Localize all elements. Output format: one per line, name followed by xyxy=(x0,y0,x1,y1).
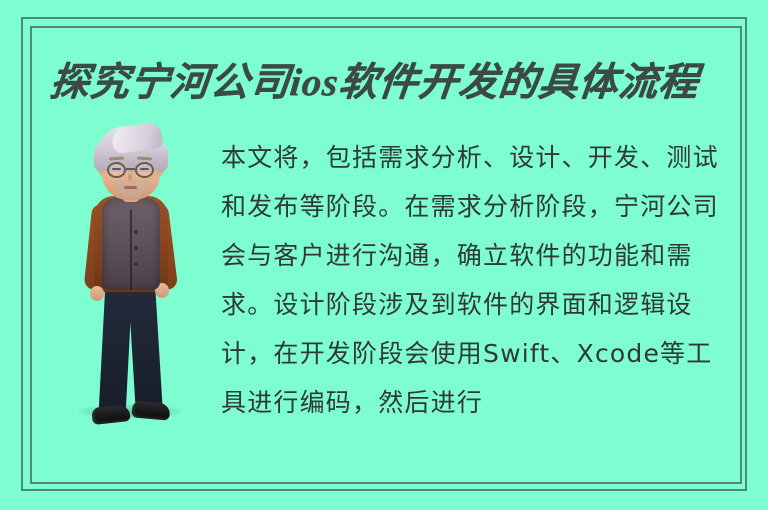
character-right-leg xyxy=(128,282,163,415)
poster-canvas: 探究宁河公司ios软件开发的具体流程 本文将，包括需求分析、设计、开发、测试和发… xyxy=(0,0,768,510)
glasses-right-lens xyxy=(135,162,154,178)
character-left-hand xyxy=(90,286,104,301)
character-mouth xyxy=(124,186,137,189)
character-right-shoe xyxy=(131,400,170,420)
page-title: 探究宁河公司ios软件开发的具体流程 xyxy=(47,57,712,109)
article-body-text: 本文将，包括需求分析、设计、开发、测试和发布等阶段。在需求分析阶段，宁河公司会与… xyxy=(221,133,729,427)
character-vest-button xyxy=(134,262,138,266)
character-vest-button xyxy=(134,230,138,234)
character-nose xyxy=(128,174,132,181)
character-left-leg xyxy=(99,282,133,415)
character-left-shoe xyxy=(91,404,131,425)
character-hair-right-side xyxy=(154,144,168,172)
character-vest-seam xyxy=(130,210,132,290)
glasses-bridge xyxy=(126,168,135,170)
character-hair-left-side xyxy=(94,144,108,172)
character-vest-button xyxy=(134,246,138,250)
man-character-illustration xyxy=(60,118,200,423)
glasses-left-lens xyxy=(107,162,126,178)
